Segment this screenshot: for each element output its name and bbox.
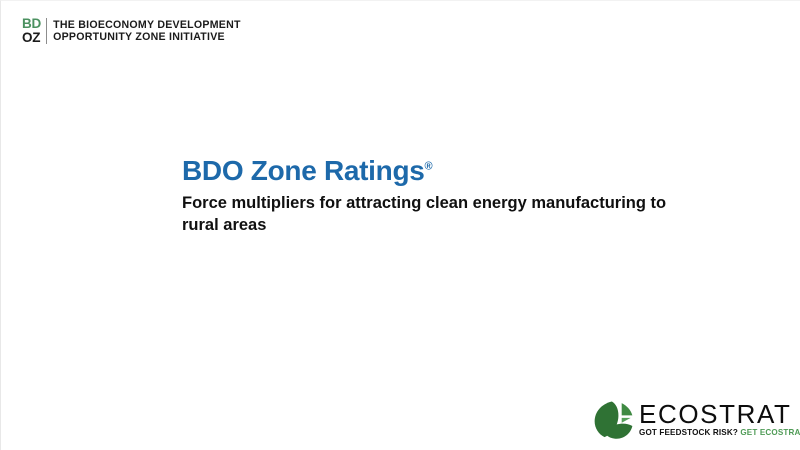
- page-subtitle: Force multipliers for attracting clean e…: [182, 193, 697, 237]
- bdoz-wordmark-line-2: OPPORTUNITY ZONE INITIATIVE: [53, 31, 241, 43]
- bdoz-logo[interactable]: BD OZ THE BIOECONOMY DEVELOPMENT OPPORTU…: [22, 17, 241, 45]
- ecostrat-tagline-question: GOT FEEDSTOCK RISK?: [639, 428, 738, 437]
- registered-trademark-icon: ®: [425, 161, 433, 173]
- ecostrat-tagline: GOT FEEDSTOCK RISK? GET ECOSTRAT.: [639, 429, 800, 437]
- bdoz-monogram-bd: BD: [22, 17, 41, 31]
- ecostrat-tagline-answer: GET ECOSTRAT.: [740, 428, 800, 437]
- bdoz-wordmark-line-1: THE BIOECONOMY DEVELOPMENT: [53, 19, 241, 31]
- title-block: BDO Zone Ratings® Force multipliers for …: [182, 156, 722, 237]
- ecostrat-text-block: ECOSTRAT GOT FEEDSTOCK RISK? GET ECOSTRA…: [639, 401, 800, 437]
- page-title-text: BDO Zone Ratings: [182, 155, 425, 186]
- page-title: BDO Zone Ratings®: [182, 156, 722, 187]
- bdoz-wordmark: THE BIOECONOMY DEVELOPMENT OPPORTUNITY Z…: [47, 17, 241, 45]
- ecostrat-leaf-icon: [593, 399, 634, 440]
- bdoz-monogram: BD OZ: [22, 17, 46, 45]
- ecostrat-wordmark: ECOSTRAT: [639, 401, 800, 427]
- slide-canvas: BD OZ THE BIOECONOMY DEVELOPMENT OPPORTU…: [0, 0, 800, 450]
- bdoz-monogram-oz: OZ: [22, 31, 41, 45]
- ecostrat-logo[interactable]: ECOSTRAT GOT FEEDSTOCK RISK? GET ECOSTRA…: [593, 399, 800, 440]
